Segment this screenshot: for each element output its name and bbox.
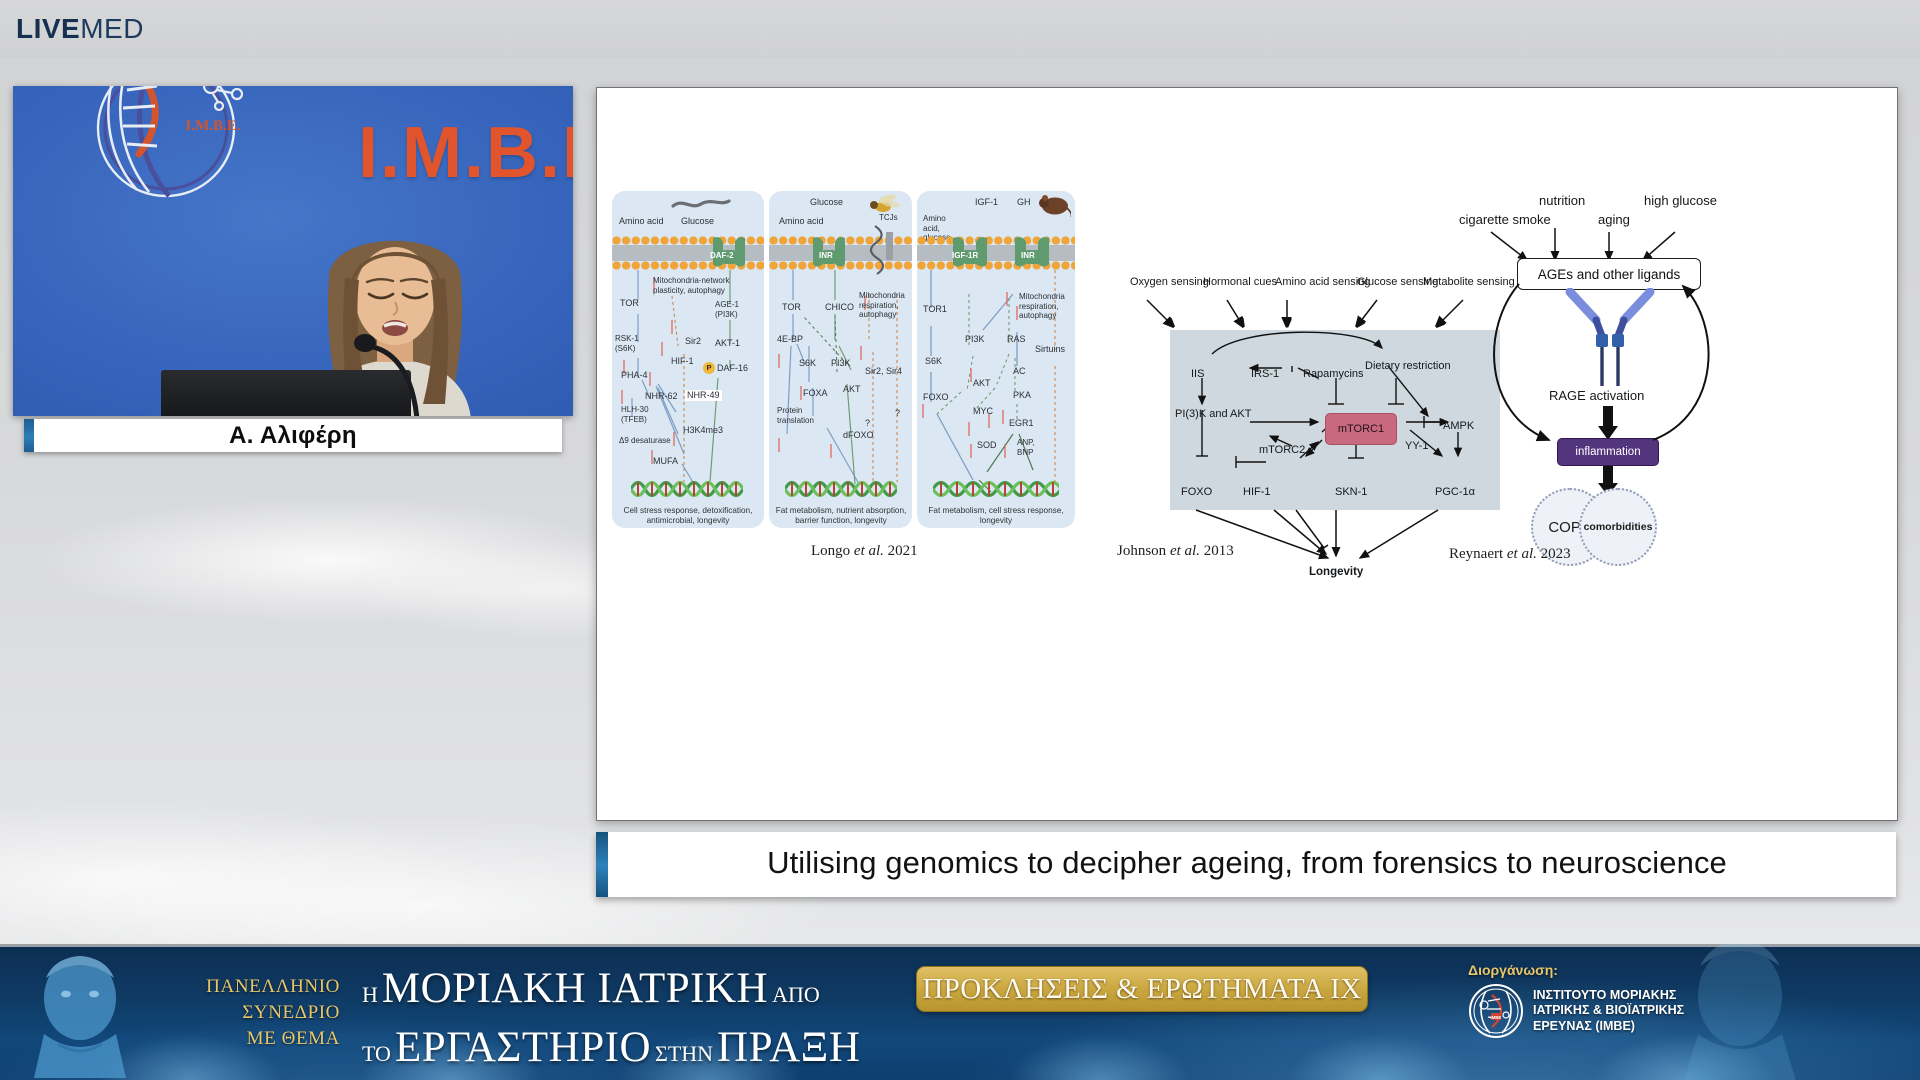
conf-word-ergastirio: ΕΡΓΑΣΤΗΡΙΟ bbox=[395, 1024, 651, 1071]
node-skn1: SKN-1 bbox=[1335, 486, 1367, 499]
input-glucose-sensing: Glucose sensing bbox=[1357, 276, 1421, 289]
node-mito-2: Mitochondria respiration, autophagy bbox=[859, 291, 909, 320]
node-foxo-j: FOXO bbox=[1181, 486, 1212, 499]
node-question-2: ? bbox=[895, 408, 900, 419]
node-pgc1a: PGC-1α bbox=[1435, 486, 1475, 499]
node-s6k-3: S6K bbox=[925, 356, 942, 367]
caption-panel-3: Fat metabolism, cell stress response, lo… bbox=[921, 506, 1071, 526]
organizer-label: Διοργάνωση: bbox=[1468, 962, 1768, 978]
node-irs1: IRS-1 bbox=[1251, 368, 1279, 381]
node-anp-bnp: ANP, BNP bbox=[1017, 438, 1051, 457]
node-mtorc1: mTORC1 bbox=[1325, 413, 1397, 445]
node-tor1: TOR1 bbox=[923, 304, 947, 315]
citation-reynaert-author: Reynaert bbox=[1449, 546, 1503, 562]
organizer-name-line-1: ΙΝΣΤΙΤΟΥΤΟ ΜΟΡΙΑΚΗΣ bbox=[1533, 988, 1684, 1004]
node-sod: SOD bbox=[977, 440, 997, 451]
backdrop-imbe-text: I.M.B.E. bbox=[358, 112, 573, 194]
title-accent-bar bbox=[596, 832, 608, 897]
hippocrates-bust-icon bbox=[18, 950, 146, 1078]
citation-johnson-author: Johnson bbox=[1117, 543, 1166, 559]
label-inr-2: INR bbox=[819, 251, 833, 261]
conference-subtitle: ΠΑΝΕΛΛΗΝΙΟ ΣΥΝΕΔΡΙΟ ΜΕ ΘΕΜΑ bbox=[180, 974, 340, 1052]
citation-reynaert: Reynaert et al. 2023 bbox=[1449, 546, 1571, 563]
node-d9-desaturase: Δ9 desaturase bbox=[619, 436, 671, 446]
node-question-1: ? bbox=[865, 418, 870, 429]
speaker-video[interactable]: I.M.B.E. I.M.B.E. bbox=[13, 86, 573, 416]
caption-panel-2: Fat metabolism, nutrient absorption, bar… bbox=[773, 506, 909, 526]
dna-helix-1 bbox=[631, 476, 743, 502]
outcome-comorbidities: comorbidities bbox=[1579, 488, 1657, 566]
node-mtorc2: mTORC2 bbox=[1259, 444, 1305, 457]
node-mito-3: Mitochondria respiration, autophagy bbox=[1019, 292, 1073, 321]
microphone-icon bbox=[343, 331, 453, 416]
node-gh: GH bbox=[1017, 197, 1031, 208]
reynaert-feedback-loops bbox=[1477, 274, 1725, 464]
node-amino-acid-2: Amino acid bbox=[779, 216, 824, 227]
node-rapamycins: Rapamycins bbox=[1303, 368, 1364, 381]
organizer-name: ΙΝΣΤΙΤΟΥΤΟ ΜΟΡΙΑΚΗΣ ΙΑΤΡΙΚΗΣ & ΒΙΟΪΑΤΡΙΚ… bbox=[1533, 988, 1684, 1035]
slide-content: Amino acid Glucose DAF-2 bbox=[597, 88, 1897, 820]
top-bar: LIVEMED bbox=[0, 0, 1920, 58]
input-nutrition: nutrition bbox=[1539, 193, 1585, 208]
organizer-block: Διοργάνωση: bbox=[1468, 962, 1768, 1039]
conf-line-2: ΣΥΝΕΔΡΙΟ bbox=[180, 1000, 340, 1026]
logo-text-live: LIVE bbox=[16, 13, 80, 44]
node-ampk: AMPK bbox=[1443, 420, 1474, 433]
node-pka: PKA bbox=[1013, 390, 1031, 401]
node-glucose-2: Glucose bbox=[810, 197, 843, 208]
conf-word-apo: ΑΠΟ bbox=[772, 982, 820, 1007]
conf-word-praxi: ΠΡΑΞΗ bbox=[717, 1024, 860, 1071]
conf-word-to: ΤΟ bbox=[362, 1041, 391, 1066]
worm-icon bbox=[671, 196, 731, 212]
dna-helix-2 bbox=[785, 476, 897, 502]
citation-johnson: Johnson et al. 2013 bbox=[1117, 543, 1234, 560]
node-mufa: MUFA bbox=[653, 456, 678, 467]
node-protein-translation: Protein translation bbox=[777, 406, 819, 425]
node-amino-acid-1: Amino acid bbox=[619, 216, 664, 227]
conf-main-row-1: Η ΜΟΡΙΑΚΗ ΙΑΤΡΙΚΗ ΑΠΟ bbox=[362, 964, 832, 1023]
livemed-logo[interactable]: LIVEMED bbox=[16, 14, 144, 44]
node-akt-3: AKT bbox=[973, 378, 991, 389]
node-daf16: DAF-16 bbox=[717, 363, 748, 374]
node-pi3k-akt: PI(3)K and AKT bbox=[1175, 408, 1229, 421]
label-igf1r: IGF-1R bbox=[952, 251, 978, 261]
node-iis: IIS bbox=[1191, 368, 1204, 381]
mouse-icon bbox=[1037, 194, 1071, 218]
organizer-row: IMBE ΙΝΣΤΙΤΟΥΤΟ ΜΟΡΙΑΚΗΣ ΙΑΤΡΙΚΗΣ & ΒΙΟΪ… bbox=[1468, 983, 1768, 1039]
citation-longo-year: 2021 bbox=[888, 543, 918, 559]
nameplate-accent-bar bbox=[24, 419, 34, 452]
input-cigarette-smoke: cigarette smoke bbox=[1459, 212, 1551, 227]
presentation-slide[interactable]: Amino acid Glucose DAF-2 bbox=[596, 87, 1898, 821]
citation-longo-author: Longo bbox=[811, 543, 850, 559]
node-sir2: Sir2 bbox=[685, 336, 701, 347]
node-ac: AC bbox=[1013, 366, 1026, 377]
node-pi3k-3: PI3K bbox=[965, 334, 985, 345]
dna-helix-3 bbox=[933, 476, 1059, 502]
node-age1: AGE-1 (PI3K) bbox=[715, 300, 751, 319]
node-igf1: IGF-1 bbox=[975, 197, 998, 208]
node-tor-1: TOR bbox=[620, 298, 639, 309]
node-hif1-1: HIF-1 bbox=[671, 356, 694, 367]
conf-main-row-2: ΤΟ ΕΡΓΑΣΤΗΡΙΟ ΣΤΗΝ ΠΡΑΞΗ bbox=[362, 1023, 832, 1080]
theme-badge: ΠΡΟΚΛΗΣΕΙΣ & ΕΡΩΤΗΜΑΤΑ IX bbox=[916, 966, 1368, 1012]
node-s6k-2: S6K bbox=[799, 358, 816, 369]
input-high-glucose: high glucose bbox=[1644, 193, 1717, 208]
conf-word-moriaki-iatriki: ΜΟΡΙΑΚΗ ΙΑΤΡΙΚΗ bbox=[382, 965, 768, 1012]
node-dietary-restriction: Dietary restriction bbox=[1365, 360, 1435, 373]
slide-title-bar: Utilising genomics to decipher ageing, f… bbox=[596, 832, 1896, 897]
input-hormonal-cues: Hormonal cues bbox=[1203, 276, 1267, 289]
label-inr-3: INR bbox=[1021, 251, 1035, 261]
node-chico: CHICO bbox=[825, 302, 854, 313]
node-pi3k-2: PI3K bbox=[831, 358, 851, 369]
node-longevity: Longevity bbox=[1309, 566, 1363, 579]
node-ras: RAS bbox=[1007, 334, 1026, 345]
node-h3k4me3: H3K4me3 bbox=[683, 425, 723, 436]
node-sirtuins: Sirtuins bbox=[1035, 344, 1065, 355]
node-dfoxo: dFOXO bbox=[843, 430, 874, 441]
node-foxa: FOXA bbox=[803, 388, 828, 399]
organizer-name-line-2: ΙΑΤΡΙΚΗΣ & ΒΙΟΪΑΤΡΙΚΗΣ bbox=[1533, 1003, 1684, 1019]
citation-longo-etal: et al. bbox=[854, 543, 884, 559]
citation-reynaert-year: 2023 bbox=[1541, 546, 1571, 562]
citation-reynaert-etal: et al. bbox=[1507, 546, 1537, 562]
input-oxygen-sensing: Oxygen sensing bbox=[1130, 276, 1194, 289]
conference-title: Η ΜΟΡΙΑΚΗ ΙΑΤΡΙΚΗ ΑΠΟ ΤΟ ΕΡΓΑΣΤΗΡΙΟ ΣΤΗΝ… bbox=[362, 964, 832, 1080]
wave-decor-4 bbox=[950, 1010, 1250, 1080]
node-4ebp: 4E-BP bbox=[777, 334, 803, 345]
node-yy1: YY-1 bbox=[1405, 440, 1428, 453]
speaker-nameplate: Α. Αλιφέρη bbox=[24, 419, 562, 452]
citation-johnson-etal: et al. bbox=[1170, 543, 1200, 559]
label-daf2: DAF-2 bbox=[710, 251, 734, 261]
svg-text:IMBE: IMBE bbox=[1491, 1015, 1502, 1020]
svg-text:I.M.B.E.: I.M.B.E. bbox=[185, 118, 240, 134]
conf-word-stin: ΣΤΗΝ bbox=[655, 1041, 713, 1066]
imbe-logo-icon: IMBE bbox=[1468, 983, 1524, 1039]
node-phospho-p: P bbox=[703, 362, 715, 374]
organizer-name-line-3: ΕΡΕΥΝΑΣ (IMBE) bbox=[1533, 1019, 1684, 1035]
speaker-name: Α. Αλιφέρη bbox=[34, 422, 562, 450]
node-mito-1: Mitochondria-network plasticity, autopha… bbox=[653, 276, 731, 295]
node-glucose-1: Glucose bbox=[681, 216, 714, 227]
conf-word-i: Η bbox=[362, 982, 378, 1007]
conf-line-3: ΜΕ ΘΕΜΑ bbox=[180, 1026, 340, 1052]
citation-johnson-year: 2013 bbox=[1204, 543, 1234, 559]
node-myc: MYC bbox=[973, 406, 993, 417]
node-hif1-j: HIF-1 bbox=[1243, 486, 1271, 499]
theme-badge-text: ΠΡΟΚΛΗΣΕΙΣ & ΕΡΩΤΗΜΑΤΑ IX bbox=[922, 973, 1361, 1006]
input-amino-acid-sensing: Amino acid sensing bbox=[1275, 276, 1347, 289]
citation-longo: Longo et al. 2021 bbox=[811, 543, 918, 560]
input-aging: aging bbox=[1598, 212, 1630, 227]
slide-title: Utilising genomics to decipher ageing, f… bbox=[608, 845, 1896, 884]
node-nhr49: NHR-49 bbox=[685, 390, 722, 401]
node-hlh30: HLH-30 (TFEB) bbox=[621, 405, 659, 424]
imbe-emblem-icon: I.M.B.E. bbox=[61, 86, 271, 220]
caption-panel-1: Cell stress response, detoxification, an… bbox=[615, 506, 761, 526]
node-tcjs: TCJs bbox=[879, 213, 898, 223]
node-akt-2: AKT bbox=[843, 384, 861, 395]
johnson-input-arrows bbox=[1125, 298, 1497, 332]
logo-text-med: MED bbox=[80, 13, 144, 44]
node-rsk1: RSK-1 (S6K) bbox=[615, 334, 649, 353]
node-sir2-sir4: Sir2, Sir4 bbox=[865, 366, 902, 377]
node-egr1: EGR1 bbox=[1009, 418, 1034, 429]
node-foxo-3: FOXO bbox=[923, 392, 949, 403]
node-nhr62: NHR-62 bbox=[645, 391, 678, 402]
node-pha4: PHA-4 bbox=[621, 370, 648, 381]
node-akt1: AKT-1 bbox=[715, 338, 740, 349]
node-tor-2: TOR bbox=[782, 302, 801, 313]
conf-line-1: ΠΑΝΕΛΛΗΝΙΟ bbox=[180, 974, 340, 1000]
